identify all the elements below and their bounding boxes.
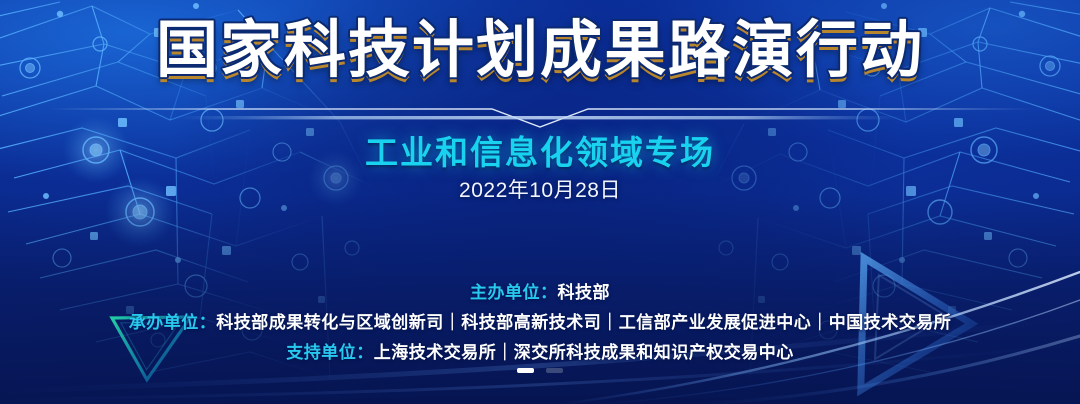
support-label: 支持单位： bbox=[286, 343, 374, 362]
title-block: 国家科技计划成果路演行动 bbox=[0, 18, 1080, 83]
event-banner: 国家科技计划成果路演行动 工业和信息化领域专场 2022年10 bbox=[0, 0, 1080, 404]
pager-dash-active[interactable] bbox=[517, 368, 534, 373]
pager-indicator[interactable] bbox=[0, 362, 1080, 380]
organizer-row-support: 支持单位：上海技术交易所｜深交所科技成果和知识产权交易中心 bbox=[0, 344, 1080, 362]
page-title: 国家科技计划成果路演行动 bbox=[156, 18, 924, 83]
co-host-label: 承办单位： bbox=[129, 313, 217, 332]
event-date: 2022年10月28日 bbox=[0, 174, 1080, 204]
host-value: 科技部 bbox=[558, 283, 611, 302]
page-subtitle: 工业和信息化领域专场 bbox=[0, 126, 1080, 174]
pager-dash-inactive[interactable] bbox=[546, 368, 563, 373]
organizer-row-host: 主办单位：科技部 bbox=[0, 284, 1080, 302]
organizer-row-co-host: 承办单位：科技部成果转化与区域创新司｜科技部高新技术司｜工信部产业发展促进中心｜… bbox=[0, 314, 1080, 332]
support-value: 上海技术交易所｜深交所科技成果和知识产权交易中心 bbox=[374, 343, 794, 362]
host-label: 主办单位： bbox=[470, 283, 558, 302]
co-host-value: 科技部成果转化与区域创新司｜科技部高新技术司｜工信部产业发展促进中心｜中国技术交… bbox=[216, 313, 951, 332]
organizer-block: 主办单位：科技部 承办单位：科技部成果转化与区域创新司｜科技部高新技术司｜工信部… bbox=[0, 284, 1080, 362]
